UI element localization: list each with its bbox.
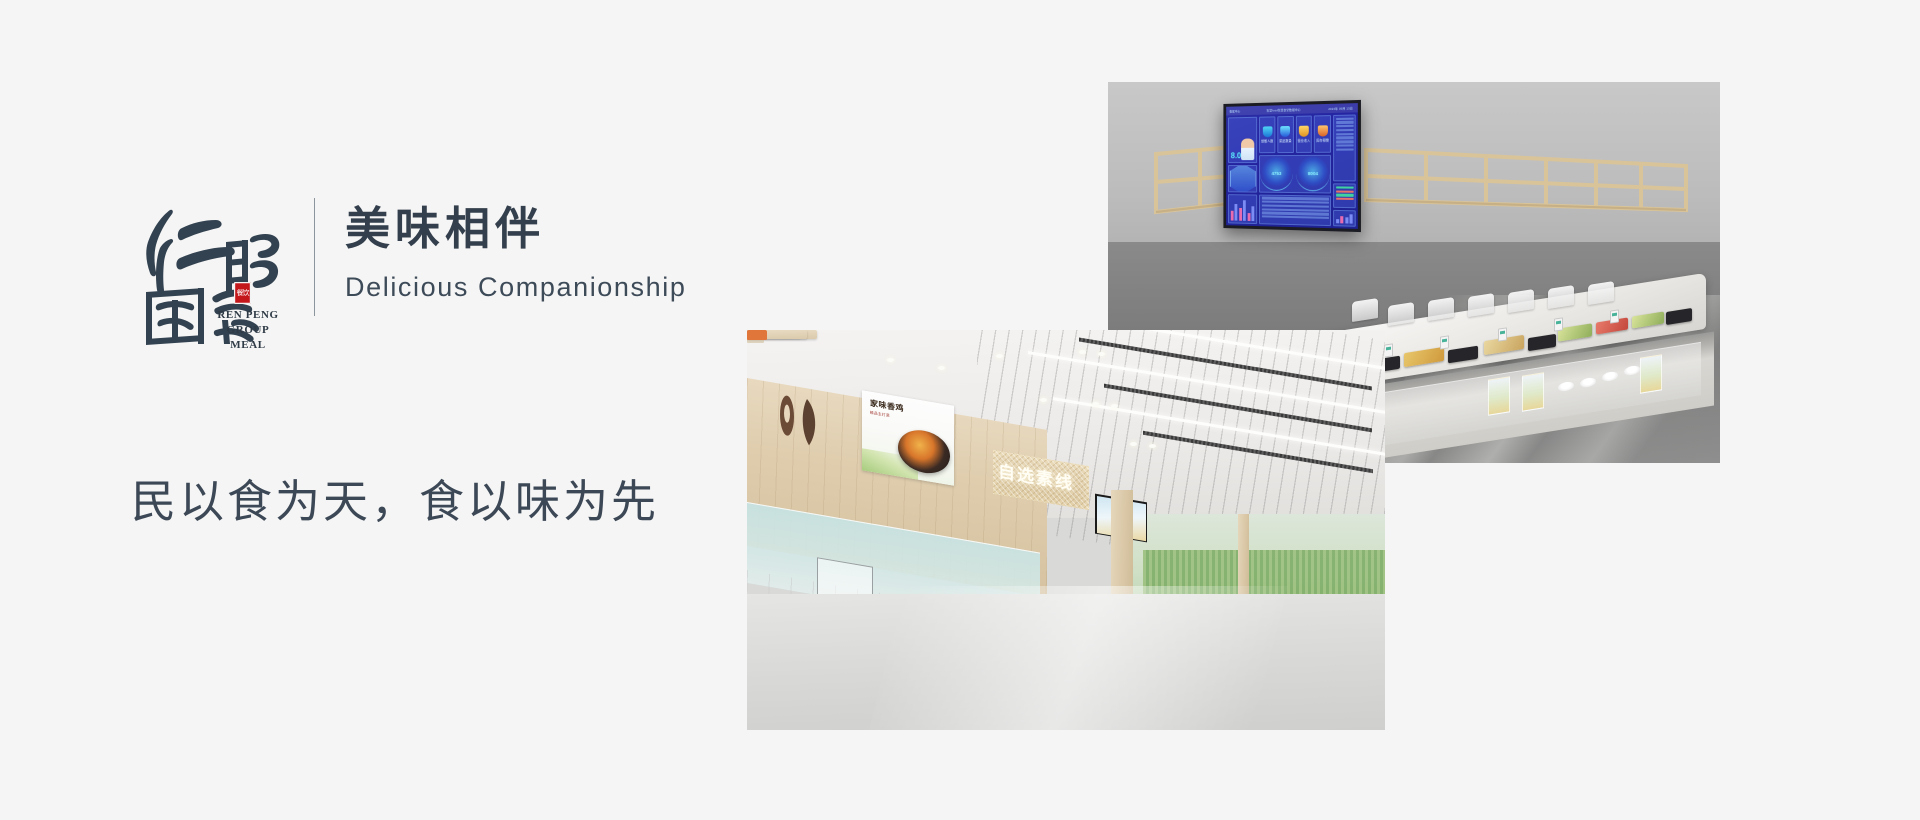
brand-en-line-2: GROUP: [200, 323, 296, 338]
sneeze-guard-6: [1548, 285, 1574, 309]
left-bar-chart: [1229, 195, 1256, 223]
dashboard-left-column: 8.0: [1228, 117, 1257, 224]
center-data-list: [1260, 195, 1330, 225]
chef-avatar-icon: [1241, 139, 1254, 161]
kpi-label-2: 菜品数量: [1279, 138, 1291, 143]
kpi-row: 就餐人数 菜品数量 营业收入: [1259, 115, 1331, 153]
menu-poster-sign: 家味香鸡 精品主打菜: [862, 390, 954, 486]
kpi-label-1: 就餐人数: [1261, 138, 1273, 143]
kpi-label-4: 库存预警: [1316, 138, 1329, 143]
counter-poster-3: [1640, 354, 1662, 393]
gauge-row: 4753 8004: [1259, 155, 1331, 193]
headline-title-en: Delicious Companionship: [345, 272, 686, 303]
center-table-card: [1259, 194, 1331, 226]
downlight-10: [1149, 444, 1156, 448]
left-bar-card: [1228, 194, 1257, 224]
chair-seat-7: [747, 330, 767, 340]
gauge-1-value: 4753: [1272, 171, 1282, 176]
sneeze-guard-3: [1428, 297, 1454, 321]
price-tag-3: [1384, 343, 1393, 357]
satisfaction-score: 8.0: [1231, 152, 1241, 161]
right-table-card: [1333, 114, 1356, 181]
kpi-card-4: 库存预警: [1314, 115, 1331, 153]
brand-logo: 餐饮 REN PENG GROUP MEAL: [130, 196, 290, 348]
downlight-8: [1111, 404, 1118, 408]
dashboard-header-left: 数据中心: [1230, 109, 1241, 113]
gauge-1: 4753: [1260, 156, 1293, 191]
slogan-text: 民以食为天，食以味为先: [131, 465, 659, 530]
dashboard-header-title: 智慧food智慧食堂数据中心: [1266, 107, 1300, 111]
kpi-card-1: 就餐人数: [1259, 116, 1275, 153]
sneeze-guard-1: [1352, 298, 1378, 322]
brand-en-line-3: MEAL: [200, 338, 296, 353]
right-bar-chart: [1334, 211, 1355, 226]
wall-decor-leaf-icon: [773, 389, 829, 450]
dashboard-body: 8.0: [1226, 112, 1358, 229]
wood-pergola-icon: [1126, 132, 1696, 240]
floor-reflection: [869, 586, 1288, 730]
gauge-2: 8004: [1296, 156, 1330, 192]
vertical-divider: [314, 198, 315, 316]
sneeze-guard-2: [1388, 302, 1414, 326]
brand-en-line-1: REN PENG: [200, 308, 296, 323]
dashboard-header-right: 2024年 09月 15日: [1329, 106, 1354, 110]
downlight-5: [1098, 352, 1105, 356]
sneeze-guard-5: [1508, 289, 1534, 313]
sneeze-guard-4: [1468, 293, 1494, 317]
counter-poster-2: [1522, 372, 1544, 411]
sneeze-guard-7: [1588, 281, 1614, 305]
right-data-list: [1334, 116, 1355, 181]
radar-card: [1228, 165, 1257, 192]
hexagon-chart-icon: [1229, 165, 1255, 192]
dashboard-tv-screen[interactable]: 数据中心 智慧food智慧食堂数据中心 2024年 09月 15日 8.0: [1223, 100, 1361, 232]
poster-subtitle: 精品主打菜: [870, 411, 890, 419]
dashboard-content: 数据中心 智慧food智慧食堂数据中心 2024年 09月 15日 8.0: [1226, 103, 1358, 229]
satisfaction-card: 8.0: [1228, 117, 1257, 164]
downlight-3: [996, 354, 1003, 358]
banner-stage: 餐饮 REN PENG GROUP MEAL 美味相伴 Delicious Co…: [0, 0, 1920, 820]
kpi-label-3: 营业收入: [1298, 138, 1311, 143]
brand-english-name: REN PENG GROUP MEAL: [200, 308, 296, 353]
downlight-4: [1079, 350, 1086, 354]
right-status-list: [1334, 185, 1355, 208]
brand-block: 餐饮 REN PENG GROUP MEAL 美味相伴 Delicious Co…: [130, 196, 686, 348]
downlight-9: [1130, 442, 1137, 446]
price-tag-7: [1610, 309, 1619, 323]
counter-poster-1: [1488, 376, 1510, 415]
kpi-card-3: 营业收入: [1296, 115, 1313, 153]
dashboard-center-column: 就餐人数 菜品数量 营业收入: [1259, 115, 1331, 226]
right-bar-card: [1333, 210, 1356, 227]
downlight-7: [1092, 402, 1099, 406]
kpi-card-2: 菜品数量: [1277, 116, 1293, 153]
red-seal-icon: 餐饮: [234, 282, 251, 304]
price-tag-6: [1554, 317, 1563, 331]
right-status-card: [1333, 184, 1356, 209]
gauge-2-value: 8004: [1308, 171, 1318, 176]
cafeteria-interior-image: 家味香鸡 精品主打菜 自选素线: [747, 330, 1385, 730]
price-tag-5: [1498, 327, 1507, 341]
headline-title-cn: 美味相伴: [345, 200, 686, 258]
price-tag-4: [1440, 335, 1449, 349]
dashboard-right-column: [1333, 114, 1356, 226]
headline-group: 美味相伴 Delicious Companionship: [345, 196, 686, 303]
